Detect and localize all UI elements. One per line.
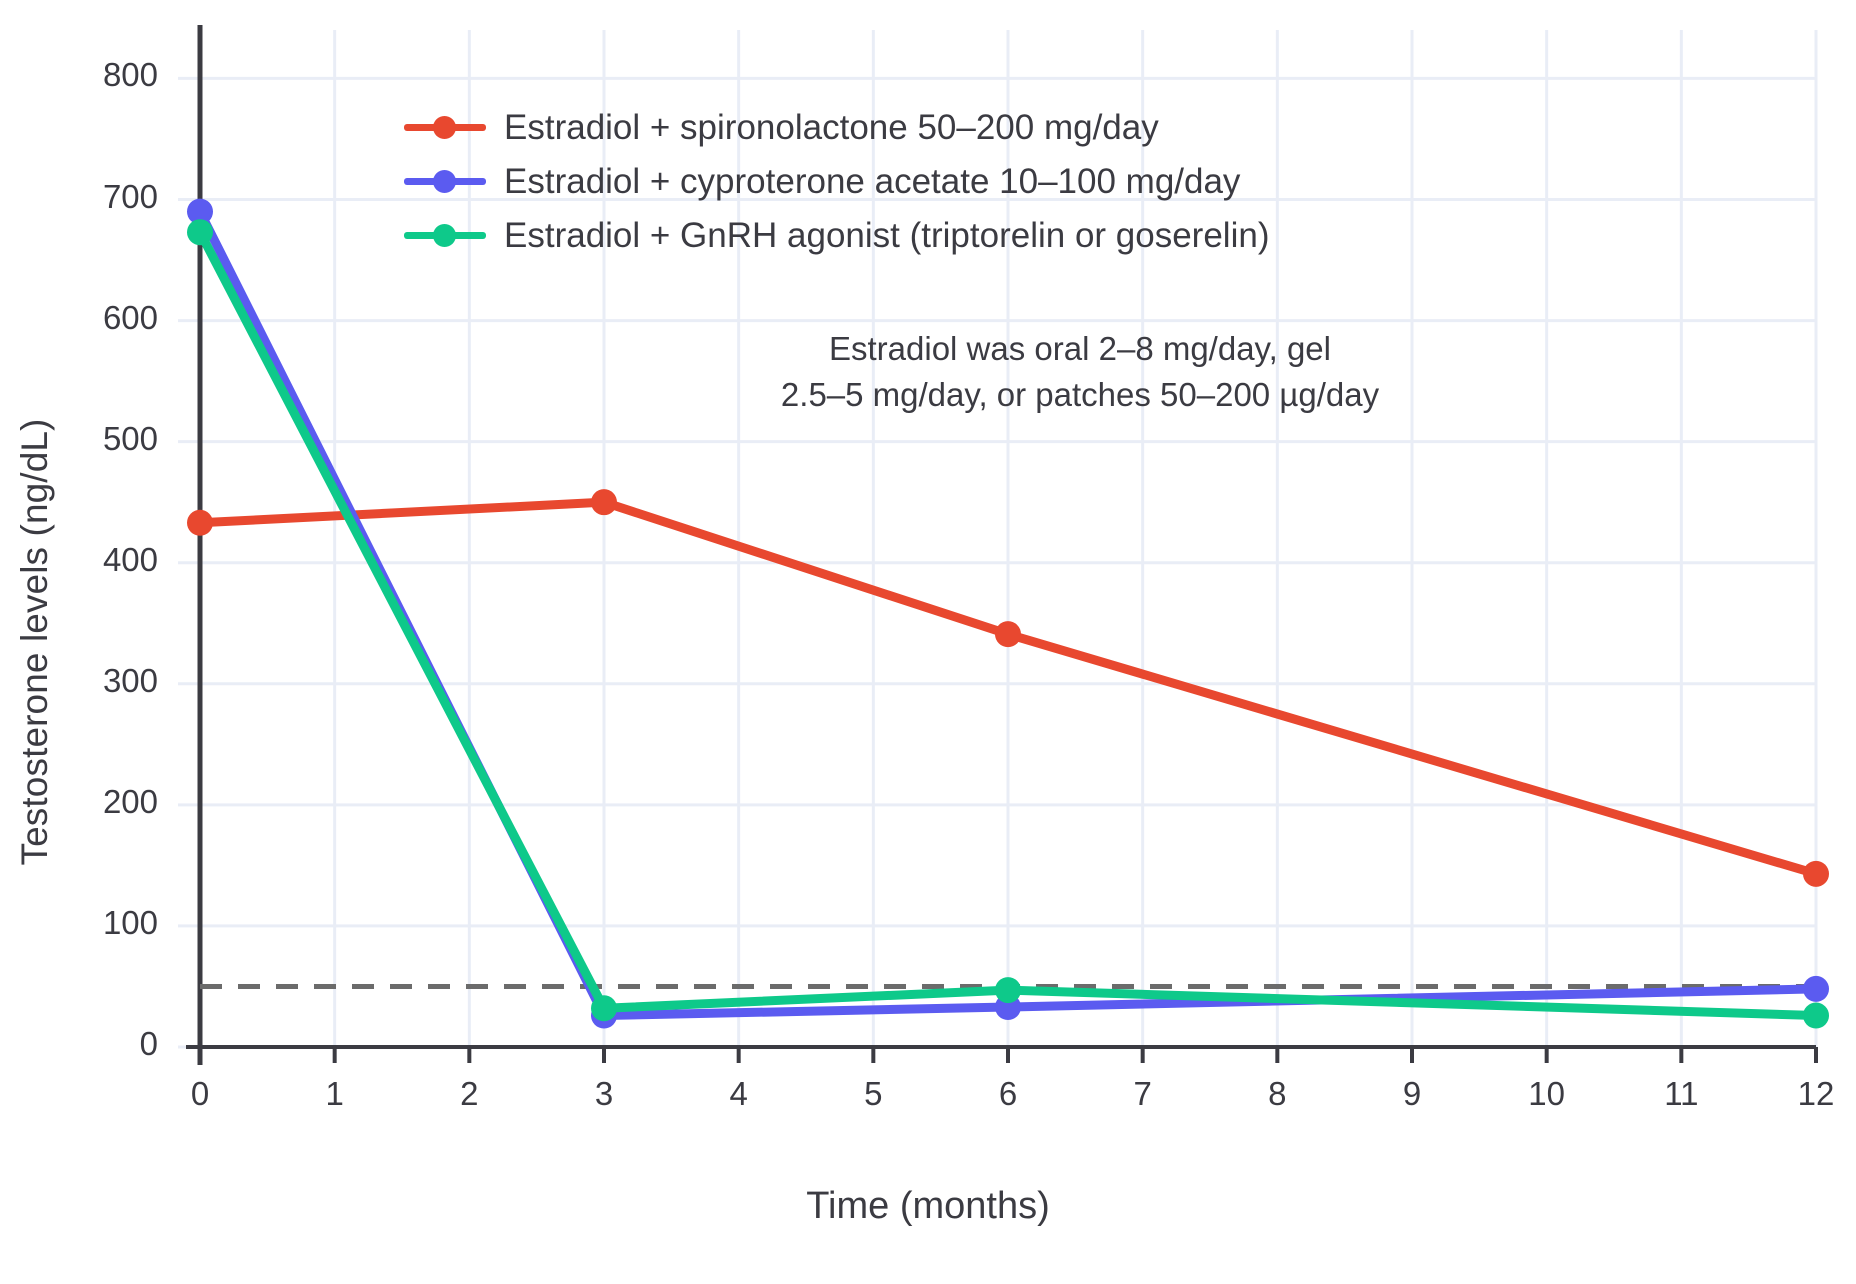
testosterone-line-chart: Testosterone levels (ng/dL) Time (months… xyxy=(0,0,1856,1284)
legend-marker-icon-gnrh xyxy=(404,223,486,247)
x-tick-label: 11 xyxy=(1641,1075,1721,1113)
x-tick-label: 0 xyxy=(160,1075,240,1113)
legend-label-cyproterone: Estradiol + cyproterone acetate 10–100 m… xyxy=(504,164,1240,199)
legend-item-spironolactone[interactable]: Estradiol + spironolactone 50–200 mg/day xyxy=(404,100,1269,154)
legend-marker-icon-cyproterone xyxy=(404,169,486,193)
x-tick-label: 10 xyxy=(1507,1075,1587,1113)
y-tick-label: 300 xyxy=(28,662,158,700)
x-tick-label: 7 xyxy=(1103,1075,1183,1113)
y-tick-label: 800 xyxy=(28,56,158,94)
y-tick-label: 200 xyxy=(28,783,158,821)
legend-item-cyproterone[interactable]: Estradiol + cyproterone acetate 10–100 m… xyxy=(404,154,1269,208)
y-tick-label: 100 xyxy=(28,904,158,942)
x-tick-label: 5 xyxy=(833,1075,913,1113)
x-tick-label: 6 xyxy=(968,1075,1048,1113)
annotation-line-1: Estradiol was oral 2–8 mg/day, gel xyxy=(760,326,1400,372)
legend: Estradiol + spironolactone 50–200 mg/day… xyxy=(404,100,1269,262)
x-tick-label: 12 xyxy=(1776,1075,1856,1113)
x-tick-label: 2 xyxy=(429,1075,509,1113)
y-tick-label: 500 xyxy=(28,420,158,458)
x-tick-label: 4 xyxy=(699,1075,779,1113)
x-tick-label: 3 xyxy=(564,1075,644,1113)
legend-marker-icon-spironolactone xyxy=(404,115,486,139)
legend-label-spironolactone: Estradiol + spironolactone 50–200 mg/day xyxy=(504,110,1159,145)
x-axis-title: Time (months) xyxy=(0,1185,1856,1228)
legend-item-gnrh[interactable]: Estradiol + GnRH agonist (triptorelin or… xyxy=(404,208,1269,262)
x-tick-label: 8 xyxy=(1237,1075,1317,1113)
y-tick-label: 700 xyxy=(28,178,158,216)
x-tick-label: 1 xyxy=(295,1075,375,1113)
annotation-line-2: 2.5–5 mg/day, or patches 50–200 µg/day xyxy=(760,372,1400,418)
x-tick-label: 9 xyxy=(1372,1075,1452,1113)
y-tick-label: 400 xyxy=(28,541,158,579)
y-tick-label: 0 xyxy=(28,1025,158,1063)
legend-label-gnrh: Estradiol + GnRH agonist (triptorelin or… xyxy=(504,218,1269,253)
estradiol-dose-annotation: Estradiol was oral 2–8 mg/day, gel 2.5–5… xyxy=(760,326,1400,417)
y-tick-label: 600 xyxy=(28,299,158,337)
